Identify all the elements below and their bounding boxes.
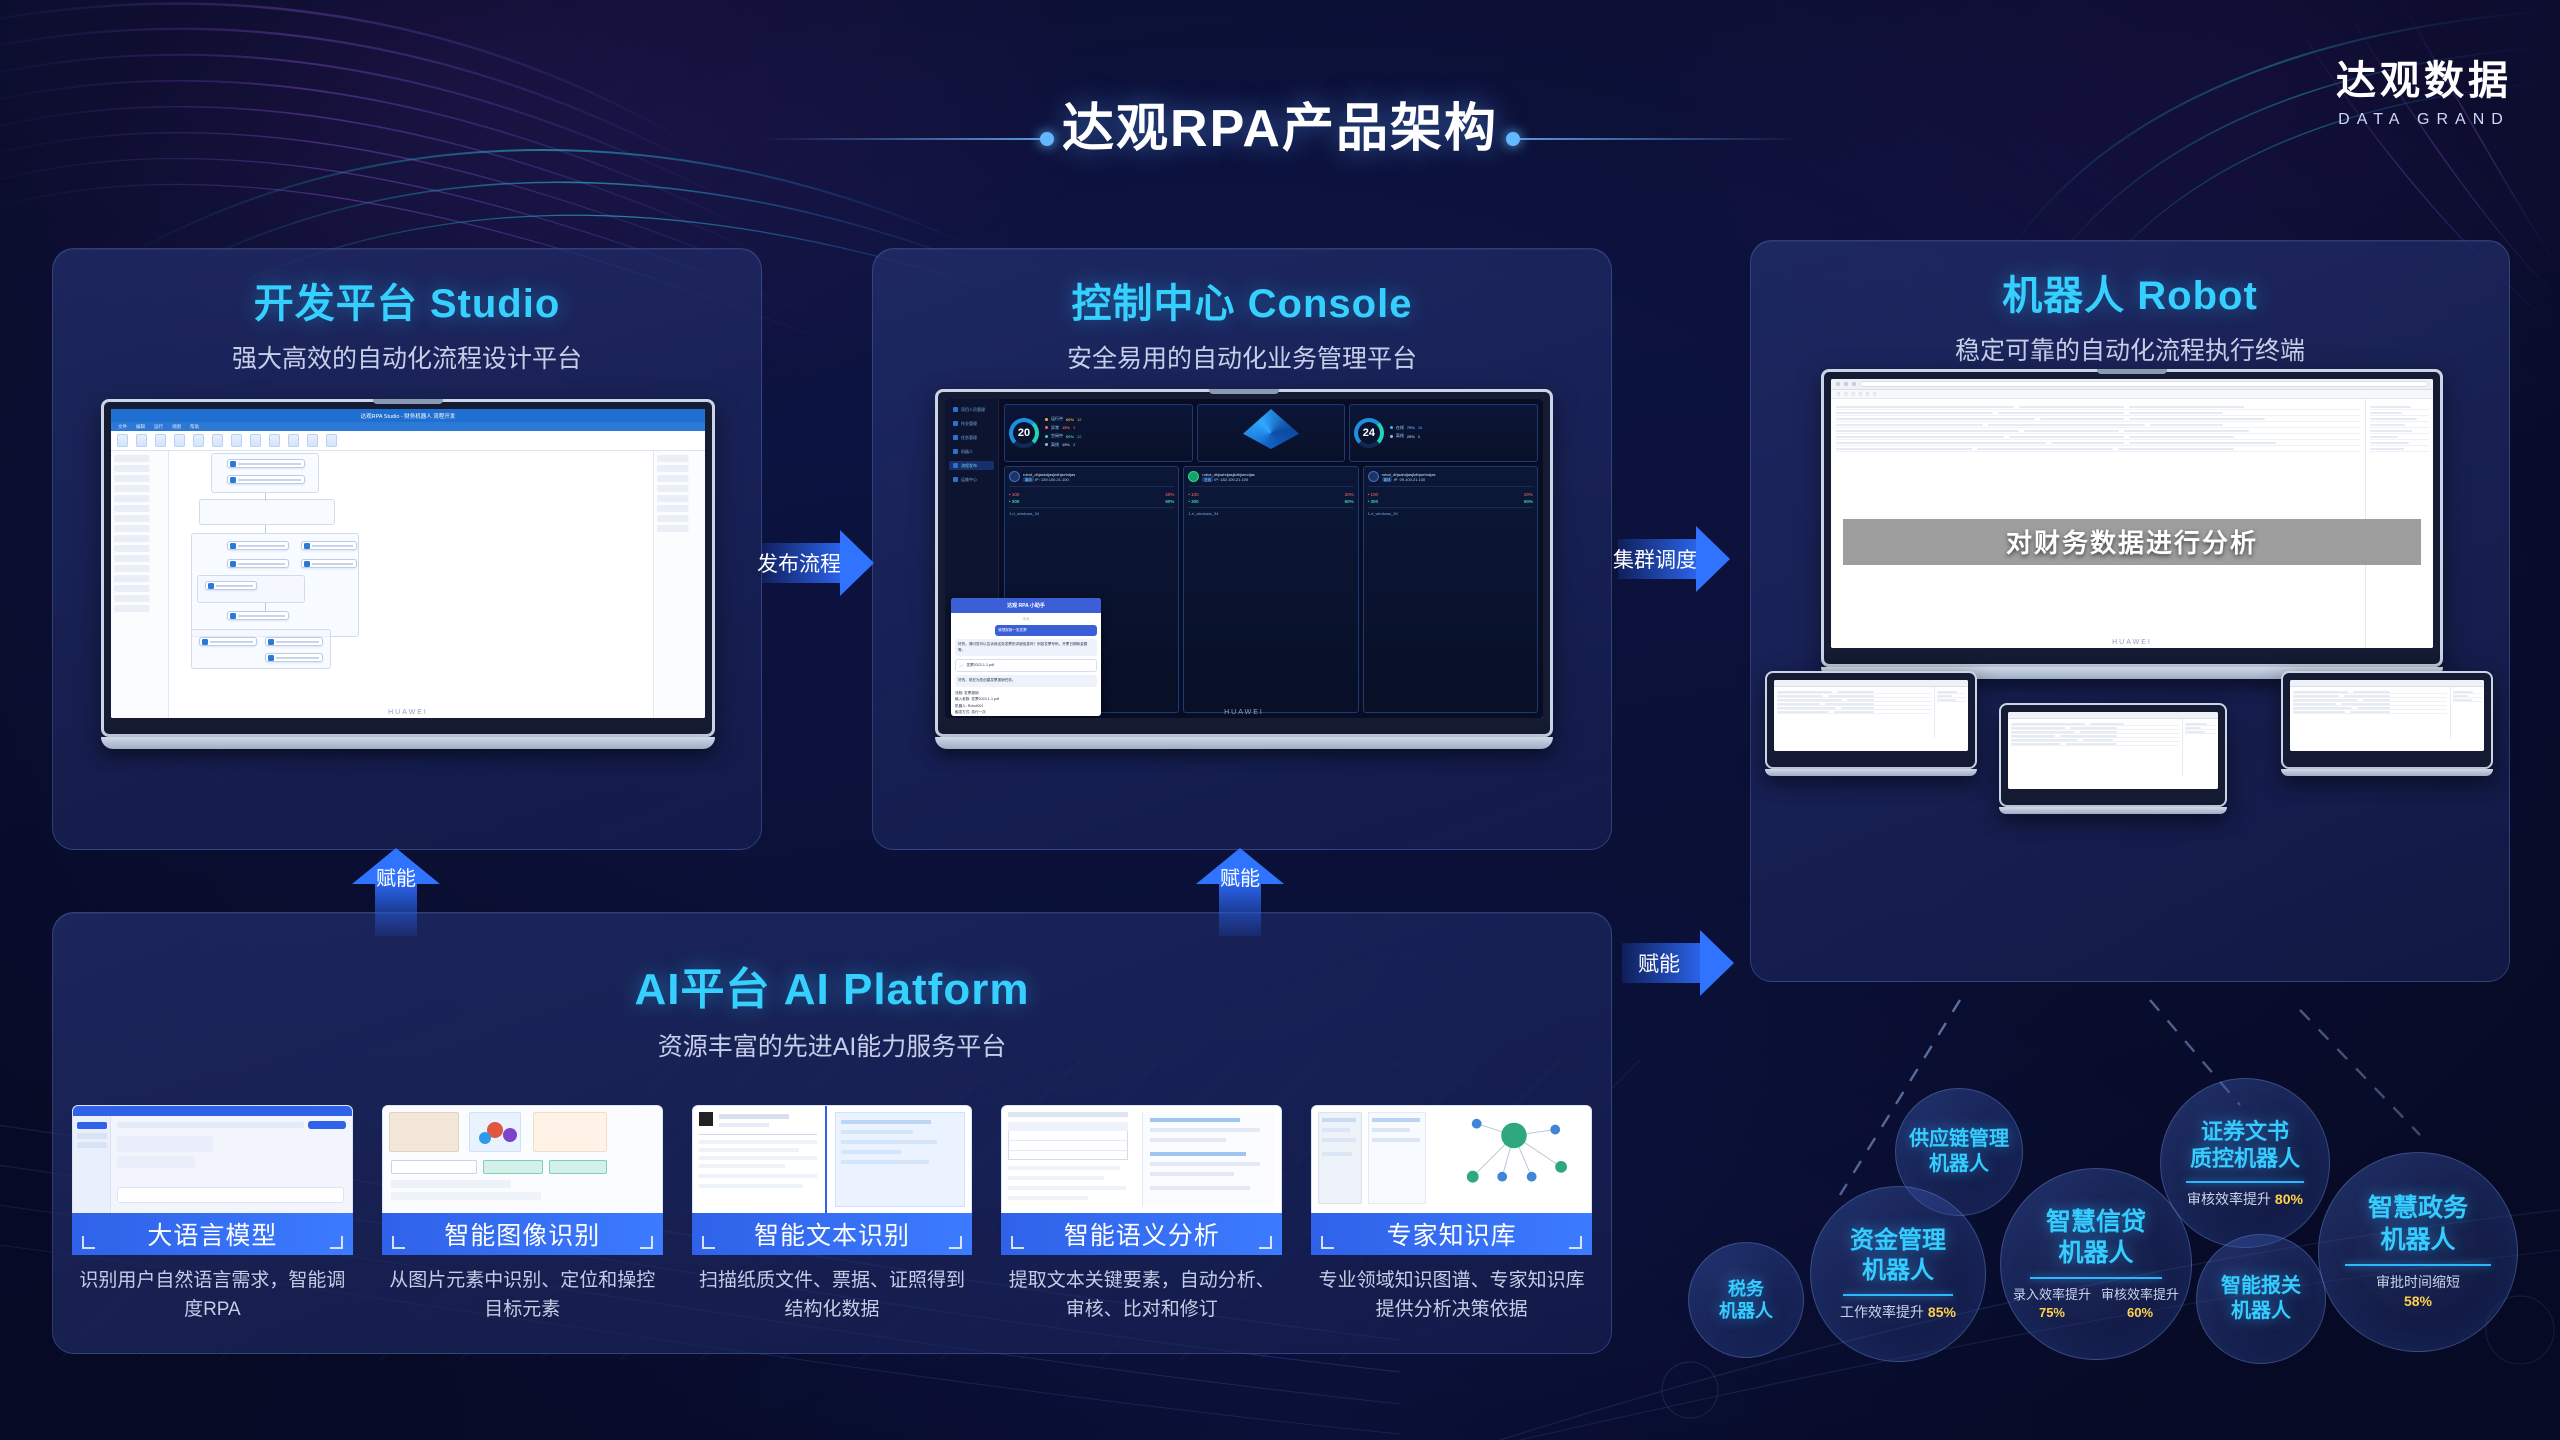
title-dot-right — [1506, 132, 1520, 146]
browser-chrome-bar[interactable] — [1831, 379, 2433, 390]
panel-robot-subtitle: 稳定可靠的自动化流程执行终端 — [1751, 331, 2509, 367]
arrow-empower-console: 赋能 — [1196, 848, 1284, 936]
arrow-publish-flow: 发布流程 — [762, 530, 874, 596]
brand-logo-en: DATA GRAND — [2336, 111, 2512, 129]
table-row[interactable] — [1836, 446, 2360, 452]
arrow-shaft — [1219, 884, 1261, 936]
metric-label: 审批时间缩短 — [2376, 1274, 2460, 1290]
tree-item[interactable] — [114, 525, 165, 532]
ai-card-desc: 专业领域知识图谱、专家知识库提供分析决策依据 — [1311, 1267, 1592, 1324]
arrow-empower-studio-label: 赋能 — [376, 862, 416, 891]
toolbar-new-icon[interactable] — [117, 434, 128, 447]
bubble-name: 智慧信贷机器人 — [2046, 1207, 2146, 1270]
browser-tab[interactable]: ▢ — [1837, 392, 1840, 396]
robot-stats: • 10020% • 30060% — [1188, 486, 1353, 504]
studio-menubar[interactable]: 文件 编辑 运行 视图 帮助 — [111, 422, 705, 431]
sidebar-label: 作业管理 — [961, 421, 977, 427]
laptop-base — [2281, 769, 2493, 776]
property-row[interactable] — [657, 525, 702, 532]
ai-card-thumb — [1001, 1105, 1282, 1213]
panel-console-title: 控制中心 Console — [873, 271, 1611, 329]
robot-ip: IP: 09.100.21.100 — [1394, 477, 1426, 482]
flow-node[interactable] — [227, 459, 305, 468]
robot-bubble-smart-credit[interactable]: 智慧信贷机器人 录入效率提升 75% 审核效率提升 60% — [2000, 1168, 2192, 1360]
kpi-card-users[interactable]: 24 在线75%18 离线25%6 — [1349, 404, 1538, 462]
flow-node[interactable] — [205, 581, 257, 590]
ai-card-label: 专家知识库 — [1311, 1213, 1592, 1255]
bubble-metric: 审批时间缩短 58% — [2376, 1273, 2460, 1311]
robot-laptop-center — [1999, 703, 2227, 814]
flow-node[interactable] — [265, 653, 323, 662]
tree-item[interactable] — [114, 585, 165, 592]
slide-canvas: 达观RPA产品架构 达观数据 DATA GRAND 开发平台 Studio 强大… — [0, 0, 2560, 1440]
robot-browser: ▢▢ ▢▢ ▢▢ — [1831, 379, 2433, 648]
sidebar-item-tasks[interactable]: 任务管理 — [949, 433, 994, 442]
toolbar-record-icon[interactable] — [231, 434, 242, 447]
property-row[interactable] — [657, 475, 702, 482]
ai-card-label: 智能图像识别 — [382, 1213, 663, 1255]
bubble-name: 资金管理机器人 — [1850, 1226, 1946, 1286]
tree-item[interactable] — [114, 555, 165, 562]
studio-properties-panel[interactable] — [653, 451, 705, 718]
browser-forward-icon[interactable] — [1844, 382, 1848, 386]
robot-stats: • 10020% • 30060% — [1368, 486, 1533, 504]
robot-bubble-customs[interactable]: 智能报关机器人 — [2196, 1234, 2326, 1364]
arrow-empower-robot: 赋能 — [1622, 930, 1734, 996]
panel-robot-title: 机器人 Robot — [1751, 263, 2509, 321]
browser-tab[interactable]: ▢ — [1859, 392, 1862, 396]
legend-label: 运行中 — [1051, 416, 1063, 422]
studio-screen[interactable]: 达观RPA Studio - 财务机器人 流程开发 文件 编辑 运行 视图 帮助 — [111, 409, 705, 718]
tree-item[interactable] — [114, 505, 165, 512]
legend-item: 运行中60%12 — [1045, 416, 1081, 422]
laptop-base — [1765, 769, 1977, 776]
menu-view[interactable]: 视图 — [172, 424, 181, 430]
legend-item: 离线15%3 — [1045, 442, 1081, 448]
file-icon: 📄 — [959, 664, 963, 668]
robot-avatar-icon — [1368, 471, 1379, 482]
pyramid-graphic — [1243, 409, 1299, 449]
metric-label: 审核效率提升 — [2101, 1287, 2179, 1302]
ai-card-thumb — [692, 1105, 973, 1213]
table-row[interactable] — [2011, 742, 2179, 746]
legend-item: 在线75%18 — [1390, 425, 1422, 431]
robot-screen-main[interactable]: ▢▢ ▢▢ ▢▢ — [1831, 379, 2433, 648]
metric-value: 75% — [2039, 1305, 2065, 1320]
ai-card-thumb — [72, 1105, 353, 1213]
ai-card-llm[interactable]: 大语言模型 识别用户自然语言需求，智能调度RPA — [72, 1105, 353, 1324]
toolbar-redo-icon[interactable] — [174, 434, 185, 447]
legend-num: 18 — [1418, 425, 1422, 430]
ai-card-text-recognition[interactable]: 智能文本识别 扫描纸质文件、票据、证照得到结构化数据 — [692, 1105, 973, 1324]
toolbar-debug-icon[interactable] — [288, 434, 299, 447]
flow-node[interactable] — [227, 475, 305, 484]
console-laptop-mock: 项目人员管理 作业管理 任务管理 机器人 流程发布 运维中心 20 — [935, 389, 1553, 749]
menu-run[interactable]: 运行 — [154, 424, 163, 430]
sidebar-label: 机器人 — [961, 449, 973, 455]
toolbar-cut-icon[interactable] — [193, 434, 204, 447]
gauge-user-total: 24 — [1354, 418, 1384, 448]
robot-stat-row: • 30060% — [1368, 499, 1533, 504]
legend-label: 在线 — [1396, 425, 1404, 431]
robot-stat-row: • 10020% — [1188, 492, 1353, 497]
flow-node[interactable] — [227, 559, 289, 568]
console-dashboard: 项目人员管理 作业管理 任务管理 机器人 流程发布 运维中心 20 — [945, 399, 1543, 718]
legend-num: 6 — [1418, 434, 1420, 439]
title-rule-right — [1510, 138, 1800, 140]
studio-toolbar[interactable] — [111, 431, 705, 451]
property-row[interactable] — [657, 485, 702, 492]
robot-screen-left[interactable] — [1774, 680, 1968, 751]
sidebar-label: 任务管理 — [961, 435, 977, 441]
robot-bubble-securities-qc[interactable]: 证券文书质控机器人 审核效率提升 80% — [2160, 1078, 2330, 1248]
sidebar-item-jobs[interactable]: 作业管理 — [949, 419, 994, 428]
studio-laptop-mock: 达观RPA Studio - 财务机器人 流程开发 文件 编辑 运行 视图 帮助 — [101, 399, 715, 749]
studio-window-title: 达观RPA Studio - 财务机器人 流程开发 — [111, 409, 705, 422]
brand-logo-cn: 达观数据 — [2336, 48, 2512, 106]
panel-studio[interactable]: 开发平台 Studio 强大高效的自动化流程设计平台 达观RPA Studio … — [52, 248, 762, 850]
tree-item[interactable] — [114, 595, 165, 602]
studio-body — [111, 451, 705, 718]
chat-file-attachment[interactable]: 📄发票2023-1-1.pdf — [955, 659, 1097, 672]
browser-tab[interactable]: ▢ — [1873, 392, 1876, 396]
flow-node[interactable] — [265, 637, 323, 646]
flow-group[interactable] — [199, 499, 335, 525]
robot-card[interactable]: robot_dhjsahdjasjkdhjsehrdjas 离线 IP: 09.… — [1363, 466, 1538, 713]
browser-tab-strip[interactable]: ▢▢ ▢▢ ▢▢ — [1831, 390, 2433, 399]
arrow-empower-console-label: 赋能 — [1220, 862, 1260, 891]
legend-item: 空闲中60%12 — [1045, 433, 1081, 439]
panel-robot-head: 机器人 Robot 稳定可靠的自动化流程执行终端 — [1751, 241, 2509, 367]
robot-card[interactable]: robot_dhjsahdjasjkdhjsendjas 在线 IP: 182.… — [1183, 466, 1358, 713]
rpa-assistant-chat[interactable]: 达观 RPA 小助手 今天 我想报销一张发票 好的，请问您可以告诉我这张发票的详… — [951, 598, 1101, 716]
ai-card-desc: 提取文本关键要素，自动分析、审核、比对和修订 — [1001, 1267, 1282, 1324]
robot-flow: 1-ri_windows_34 — [1009, 507, 1174, 516]
toolbar-capture-icon[interactable] — [250, 434, 261, 447]
robot-bubble-tax[interactable]: 税务机器人 — [1688, 1242, 1804, 1358]
panel-studio-title: 开发平台 Studio — [53, 271, 761, 329]
robot-stats: • 10020% • 30060% — [1009, 486, 1174, 504]
brand-logo: 达观数据 DATA GRAND — [2336, 48, 2512, 129]
legend-item: 离线25%6 — [1390, 433, 1422, 439]
flow-node[interactable] — [301, 541, 357, 550]
tree-item[interactable] — [114, 545, 165, 552]
tree-item[interactable] — [114, 455, 165, 462]
tree-item[interactable] — [114, 475, 165, 482]
metric-label: 审核效率提升 — [2187, 1191, 2271, 1207]
robot-laptop-main: ▢▢ ▢▢ ▢▢ — [1821, 369, 2443, 679]
ai-card-knowledge-base[interactable]: 专家知识库 专业领域知识图谱、专家知识库提供分析决策依据 — [1311, 1105, 1592, 1324]
sidebar-label: 运维中心 — [961, 477, 977, 483]
toolbar-save-icon[interactable] — [136, 434, 147, 447]
page-title: 达观RPA产品架构 — [0, 86, 2560, 161]
menu-edit[interactable]: 编辑 — [136, 424, 145, 430]
legend-num: 12 — [1077, 434, 1081, 439]
metric-value: 85% — [1928, 1304, 1956, 1320]
metric-value: 80% — [2275, 1191, 2303, 1207]
arrow-cluster-label: 集群调度 — [1618, 539, 1696, 579]
panel-studio-subtitle: 强大高效的自动化流程设计平台 — [53, 339, 761, 375]
robot-bubble-government[interactable]: 智慧政务机器人 审批时间缩短 58% — [2318, 1152, 2518, 1352]
legend-item: 异常15%3 — [1045, 425, 1081, 431]
sidebar-item-publish[interactable]: 流程发布 — [949, 461, 994, 470]
chat-body: 今天 我想报销一张发票 好的，请问您可以告诉我这张发票的详细信息吗？例如发票号码… — [951, 613, 1101, 716]
sidebar-item-project[interactable]: 项目人员管理 — [949, 405, 994, 414]
chat-bot-message-2: 好的，现在为您创建发票报销任务。 — [955, 675, 1097, 686]
bubble-metric: 工作效率提升 85% — [1840, 1303, 1956, 1322]
side-row[interactable] — [1937, 698, 1966, 702]
panel-console-head: 控制中心 Console 安全易用的自动化业务管理平台 — [873, 249, 1611, 375]
legend-label: 离线 — [1396, 433, 1404, 439]
robot-status-badge: 离线 — [1023, 477, 1034, 482]
legend-pct: 60% — [1066, 434, 1074, 439]
robot-laptop-right — [2281, 671, 2493, 776]
toolbar-stop-icon[interactable] — [326, 434, 337, 447]
ai-card-desc: 扫描纸质文件、票据、证照得到结构化数据 — [692, 1267, 973, 1324]
bubble-divider — [2345, 1264, 2491, 1266]
legend-num: 12 — [1077, 417, 1081, 422]
metric-value: 58% — [2404, 1293, 2432, 1309]
robot-stat-row: • 30060% — [1188, 499, 1353, 504]
flow-group[interactable] — [191, 629, 331, 669]
console-kpi-row: 20 运行中60%12 异常15%3 空闲中60%12 离线15%3 — [1004, 404, 1538, 462]
bubble-name: 税务机器人 — [1719, 1278, 1773, 1323]
table-row[interactable] — [1777, 710, 1931, 714]
arrow-empower-studio: 赋能 — [352, 848, 440, 936]
chat-title: 达观 RPA 小助手 — [951, 598, 1101, 613]
legend-pct: 25% — [1407, 434, 1415, 439]
sidebar-label: 流程发布 — [961, 463, 977, 469]
legend-pct: 60% — [1066, 417, 1074, 422]
side-row[interactable] — [2370, 446, 2429, 452]
laptop-base — [935, 737, 1553, 749]
ai-card-desc: 识别用户自然语言需求，智能调度RPA — [72, 1267, 353, 1324]
property-row[interactable] — [657, 515, 702, 522]
bubble-metrics: 录入效率提升 75% 审核效率提升 60% — [2013, 1286, 2179, 1321]
legend-pct: 15% — [1062, 425, 1070, 430]
kpi-card-visual — [1197, 404, 1345, 462]
bubble-metrics: 审批时间缩短 58% — [2376, 1273, 2460, 1311]
chat-bot-message: 好的，请问您可以告诉我这张发票的详细信息吗？例如发票号码、开票日期和金额等。 — [955, 639, 1097, 656]
robot-ip: IP: 182.100.21.100 — [1214, 477, 1248, 482]
bubble-metrics: 工作效率提升 85% — [1840, 1303, 1956, 1322]
menu-help[interactable]: 帮助 — [190, 424, 199, 430]
metric-label: 录入效率提升 — [2013, 1287, 2091, 1302]
legend-label: 异常 — [1051, 425, 1059, 431]
panel-ai-head: AI平台 AI Platform 资源丰富的先进AI能力服务平台 — [53, 913, 1611, 1063]
toolbar-copy-icon[interactable] — [212, 434, 223, 447]
browser-address-bar[interactable] — [1860, 381, 2428, 387]
ai-card-desc: 从图片元素中识别、定位和操控目标元素 — [382, 1267, 663, 1324]
bubble-metric: 审核效率提升 60% — [2101, 1286, 2179, 1321]
browser-tab[interactable]: ▢ — [1844, 392, 1847, 396]
menu-file[interactable]: 文件 — [118, 424, 127, 430]
panel-console[interactable]: 控制中心 Console 安全易用的自动化业务管理平台 项目人员管理 作业管理 … — [872, 248, 1612, 850]
robot-flow-name: 1-ri_windows_34 — [1368, 511, 1398, 516]
laptop-brand: HUAWEI — [111, 709, 705, 716]
sidebar-item-robots[interactable]: 机器人 — [949, 447, 994, 456]
thumb-image-ocr — [383, 1106, 662, 1213]
panel-ai-title: AI平台 AI Platform — [53, 953, 1611, 1017]
tree-item[interactable] — [114, 515, 165, 522]
table-row[interactable] — [2293, 710, 2447, 714]
bubble-name: 证券文书质控机器人 — [2190, 1118, 2300, 1173]
robot-screen-center[interactable] — [2008, 712, 2218, 789]
robot-status-badge: 在线 — [1202, 477, 1213, 482]
property-row[interactable] — [657, 505, 702, 512]
kpi-card-robots[interactable]: 20 运行中60%12 异常15%3 空闲中60%12 离线15%3 — [1004, 404, 1193, 462]
bubble-divider — [2186, 1181, 2304, 1183]
ai-card-label: 大语言模型 — [72, 1213, 353, 1255]
property-row[interactable] — [657, 465, 702, 472]
side-row[interactable] — [2185, 730, 2216, 734]
tree-item[interactable] — [114, 485, 165, 492]
bubble-name: 供应链管理机器人 — [1909, 1127, 2009, 1177]
bubble-metrics: 审核效率提升 80% — [2187, 1190, 2303, 1209]
sidebar-label: 项目人员管理 — [961, 407, 985, 413]
thumb-chat-ui — [73, 1106, 352, 1213]
arrow-cluster-dispatch: 集群调度 — [1618, 526, 1730, 592]
toolbar-colorpicker-icon[interactable] — [269, 434, 280, 447]
panel-studio-head: 开发平台 Studio 强大高效的自动化流程设计平台 — [53, 249, 761, 375]
property-row[interactable] — [657, 455, 702, 462]
legend-num: 3 — [1073, 425, 1075, 430]
robot-browser-left — [1774, 680, 1968, 751]
studio-flow-canvas[interactable] — [169, 451, 653, 718]
panel-console-subtitle: 安全易用的自动化业务管理平台 — [873, 339, 1611, 375]
legend-pct: 15% — [1062, 442, 1070, 447]
robot-ip: IP: 139.100.21.100 — [1035, 477, 1069, 482]
browser-reload-icon[interactable] — [1852, 382, 1856, 386]
robot-flow-name: 1-ri_windows_34 — [1188, 511, 1218, 516]
robot-browser-right — [2290, 680, 2484, 751]
bubble-metric: 录入效率提升 75% — [2013, 1286, 2091, 1321]
ai-card-label: 智能语义分析 — [1001, 1213, 1282, 1255]
tree-item[interactable] — [114, 535, 165, 542]
chat-user-message: 我想报销一张发票 — [995, 625, 1097, 636]
robot-stat-row: • 10020% — [1009, 492, 1174, 497]
tree-item[interactable] — [114, 465, 165, 472]
robot-bubble-fund-management[interactable]: 资金管理机器人 工作效率提升 85% — [1810, 1186, 1986, 1362]
property-row[interactable] — [657, 495, 702, 502]
console-screen[interactable]: 项目人员管理 作业管理 任务管理 机器人 流程发布 运维中心 20 — [945, 399, 1543, 718]
bubble-divider — [1843, 1294, 1953, 1296]
arrow-head-icon — [1696, 526, 1730, 592]
metric-value: 60% — [2127, 1305, 2153, 1320]
arrow-head-icon — [840, 530, 874, 596]
flow-node[interactable] — [301, 559, 357, 568]
laptop-brand: HUAWEI — [945, 709, 1543, 716]
legend-left: 运行中60%12 异常15%3 空闲中60%12 离线15%3 — [1045, 416, 1081, 450]
arrow-empower-robot-label: 赋能 — [1622, 943, 1700, 983]
thumb-document-ocr — [693, 1106, 972, 1213]
ai-card-thumb — [1311, 1105, 1592, 1213]
bubble-name: 智能报关机器人 — [2221, 1274, 2301, 1324]
panel-robot[interactable]: 机器人 Robot 稳定可靠的自动化流程执行终端 ▢▢ — [1750, 240, 2510, 982]
legend-num: 3 — [1073, 442, 1075, 447]
chat-file-name: 发票2023-1-1.pdf — [966, 663, 994, 668]
side-row[interactable] — [2453, 698, 2482, 702]
ai-capability-cards: 大语言模型 识别用户自然语言需求，智能调度RPA — [72, 1105, 1592, 1324]
toolbar-undo-icon[interactable] — [155, 434, 166, 447]
studio-activity-tree[interactable] — [111, 451, 169, 718]
robot-status-badge: 离线 — [1382, 477, 1393, 482]
gauge-robot-total: 20 — [1009, 418, 1039, 448]
robot-browser-center — [2008, 712, 2218, 789]
laptop-base — [1999, 807, 2227, 814]
robot-avatar-icon — [1009, 471, 1020, 482]
robot-task-overlay: 对财务数据进行分析 — [1843, 519, 2421, 565]
robot-avatar-icon — [1188, 471, 1199, 482]
arrow-shaft — [375, 884, 417, 936]
ai-card-image-recognition[interactable]: 智能图像识别 从图片元素中识别、定位和操控目标元素 — [382, 1105, 663, 1324]
ai-card-thumb — [382, 1105, 663, 1213]
flow-node[interactable] — [199, 637, 257, 646]
bubble-metric: 审核效率提升 80% — [2187, 1190, 2303, 1209]
tree-item[interactable] — [114, 495, 165, 502]
robot-stat-row: • 30060% — [1009, 499, 1174, 504]
ai-card-label: 智能文本识别 — [692, 1213, 973, 1255]
ai-card-semantic-analysis[interactable]: 智能语义分析 提取文本关键要素，自动分析、审核、比对和修订 — [1001, 1105, 1282, 1324]
studio-ide: 达观RPA Studio - 财务机器人 流程开发 文件 编辑 运行 视图 帮助 — [111, 409, 705, 718]
bubble-divider — [2030, 1277, 2162, 1279]
tree-item[interactable] — [114, 565, 165, 572]
robot-flow: 1-ri_windows_34 — [1368, 507, 1533, 516]
robot-flow: 1-ri_windows_34 — [1188, 507, 1353, 516]
legend-label: 离线 — [1051, 442, 1059, 448]
panel-ai-subtitle: 资源丰富的先进AI能力服务平台 — [53, 1027, 1611, 1063]
bubble-name: 智慧政务机器人 — [2368, 1193, 2468, 1256]
laptop-base — [101, 737, 715, 749]
thumb-semantic-doc — [1002, 1106, 1281, 1213]
tree-item[interactable] — [114, 575, 165, 582]
chat-day: 今天 — [955, 617, 1097, 622]
legend-pct: 75% — [1407, 425, 1415, 430]
flow-node[interactable] — [227, 541, 289, 550]
toolbar-run-icon[interactable] — [307, 434, 318, 447]
robot-screen-right[interactable] — [2290, 680, 2484, 751]
legend-right: 在线75%18 离线25%6 — [1390, 425, 1422, 442]
browser-tab[interactable]: ▢ — [1866, 392, 1869, 396]
tree-item[interactable] — [114, 605, 165, 612]
flow-node[interactable] — [227, 611, 289, 620]
arrow-head-icon — [1700, 930, 1734, 996]
robot-flow-name: 1-ri_windows_34 — [1009, 511, 1039, 516]
sidebar-item-ops[interactable]: 运维中心 — [949, 475, 994, 484]
browser-back-icon[interactable] — [1836, 382, 1840, 386]
thumb-knowledge-graph — [1312, 1106, 1591, 1213]
laptop-brand: HUAWEI — [1831, 639, 2433, 646]
browser-tab[interactable]: ▢ — [1851, 392, 1854, 396]
arrow-publish-label: 发布流程 — [762, 543, 840, 583]
legend-label: 空闲中 — [1051, 433, 1063, 439]
metric-label: 工作效率提升 — [1840, 1304, 1924, 1320]
robot-stat-row: • 10020% — [1368, 492, 1533, 497]
robot-laptop-left — [1765, 671, 1977, 776]
